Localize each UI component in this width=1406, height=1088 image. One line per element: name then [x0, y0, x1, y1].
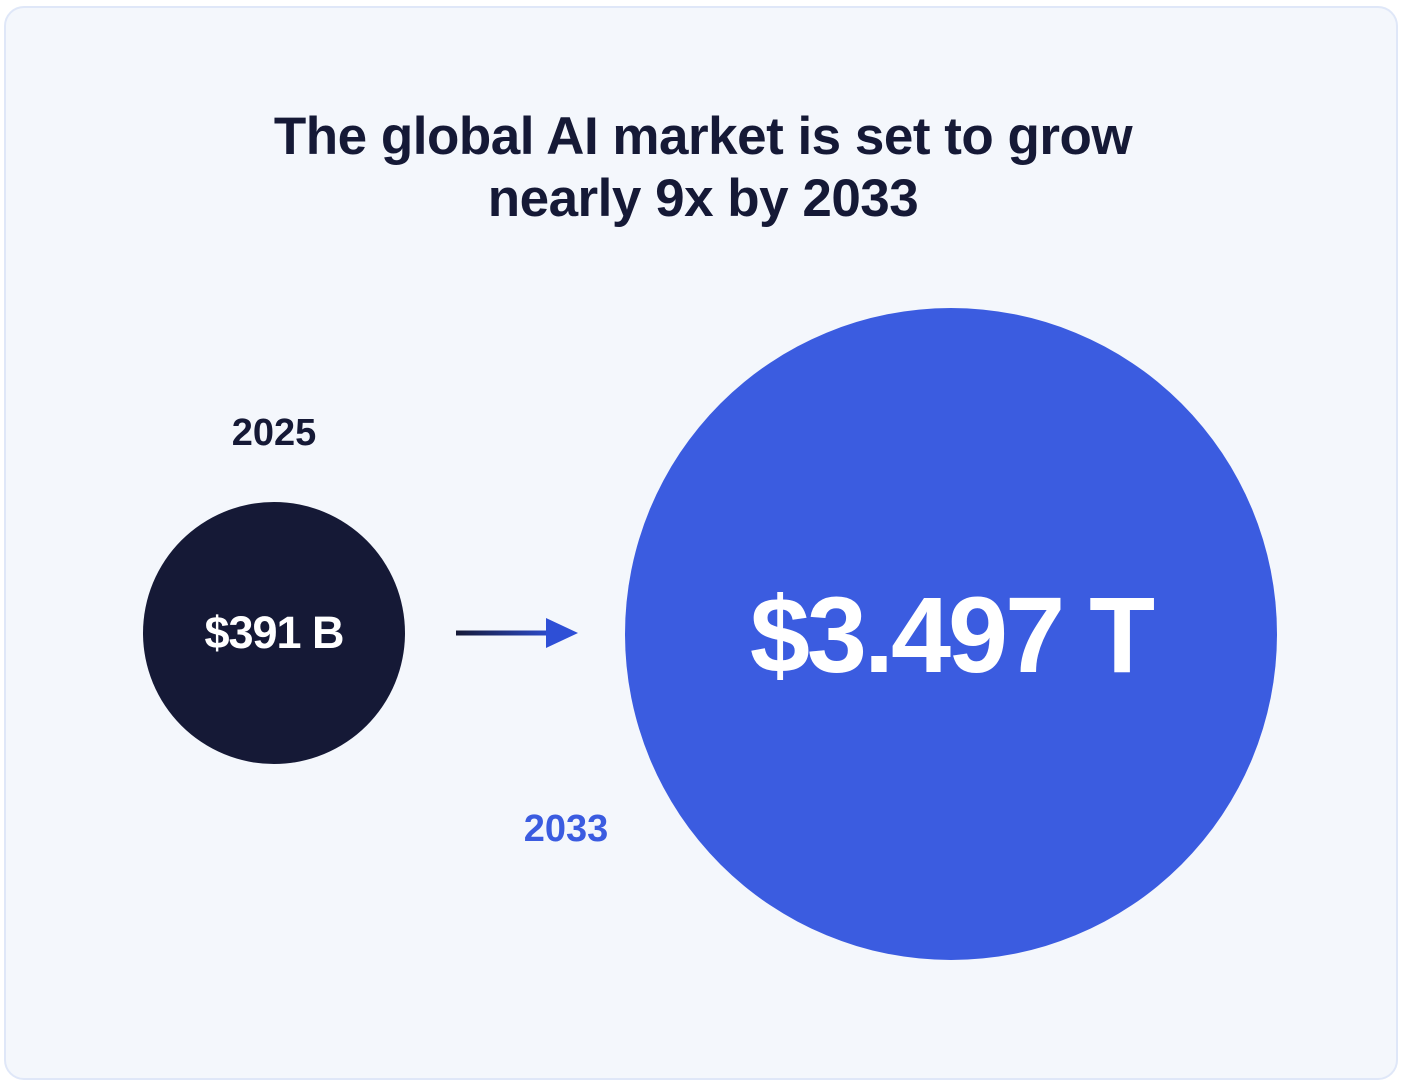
- infographic-card: The global AI market is set to grow near…: [4, 6, 1398, 1080]
- bubble-2025: $391 B: [143, 502, 405, 764]
- bubble-2025-value: $391 B: [204, 607, 343, 659]
- year-label-2033: 2033: [466, 808, 666, 851]
- arrow-right-icon: [454, 609, 580, 657]
- bubble-2033-value: $3.497 T: [750, 572, 1152, 697]
- page-title: The global AI market is set to grow near…: [6, 106, 1398, 230]
- bubble-2033: $3.497 T: [625, 308, 1277, 960]
- title-line-2: nearly 9x by 2033: [6, 168, 1398, 230]
- title-line-1: The global AI market is set to grow: [6, 106, 1398, 168]
- year-label-2025: 2025: [143, 412, 405, 455]
